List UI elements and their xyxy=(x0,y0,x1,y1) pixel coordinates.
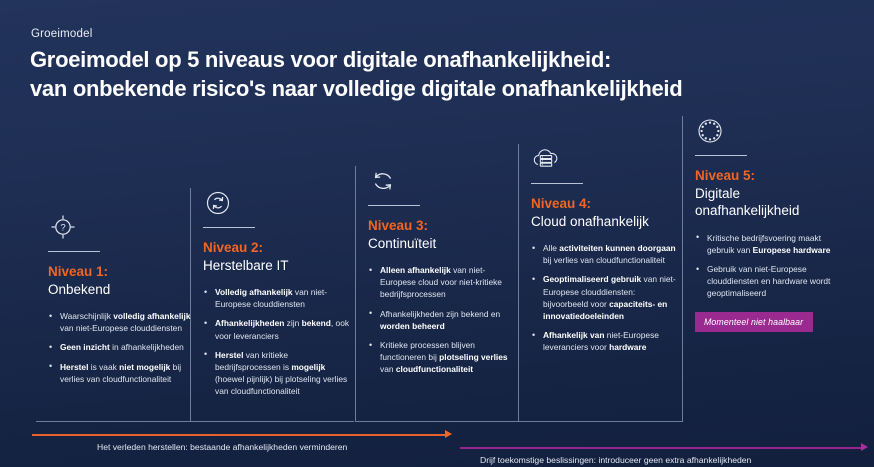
list-item: Alle activiteiten kunnen doorgaan bij ve… xyxy=(531,242,682,266)
level-column-4: Niveau 4: Cloud onafhankelijk Alle activ… xyxy=(518,144,682,422)
list-item: Afhankelijkheden zijn bekend, ook voor l… xyxy=(203,317,354,341)
level-label: Niveau 1: xyxy=(48,263,200,281)
list-item: Afhankelijkheden zijn bekend en worden b… xyxy=(368,308,519,332)
list-item: Alleen afhankelijk van niet-Europese clo… xyxy=(368,264,519,301)
restore-circle-icon xyxy=(203,188,233,218)
level-label: Niveau 2: xyxy=(203,239,354,257)
status-badge: Momenteel niet haalbaar xyxy=(695,312,813,332)
level-column-3: Niveau 3: Continuïteit Alleen afhankelij… xyxy=(355,166,519,422)
target-question-icon: ? xyxy=(48,212,78,242)
list-item: Volledig afhankelijk van niet-Europese c… xyxy=(203,286,354,310)
list-item: Geen inzicht in afhankelijkheden xyxy=(48,341,200,353)
level-name: Onbekend xyxy=(48,281,200,299)
level-bullets: Kritische bedrijfsvoering maakt gebruik … xyxy=(695,232,846,300)
svg-text:?: ? xyxy=(60,223,65,234)
divider-rule xyxy=(368,205,420,206)
level-bullets: Waarschijnlijk volledig afhankelijk van … xyxy=(48,310,200,385)
level-name: Digitale onafhankelijkheid xyxy=(695,185,846,220)
level-name: Herstelbare IT xyxy=(203,257,354,275)
arrow-label: Het verleden herstellen: bestaande afhan… xyxy=(97,442,347,452)
list-item: Kritieke processen blijven functioneren … xyxy=(368,339,519,376)
arrow-past-restore: Het verleden herstellen: bestaande afhan… xyxy=(32,434,452,460)
level-bullets: Alle activiteiten kunnen doorgaan bij ve… xyxy=(531,242,682,354)
list-item: Waarschijnlijk volledig afhankelijk van … xyxy=(48,310,200,334)
arrow-line xyxy=(460,447,861,449)
cloud-server-icon xyxy=(531,144,561,174)
divider-rule xyxy=(48,251,100,252)
list-item: Herstel van kritieke bedrijfsprocessen i… xyxy=(203,349,354,398)
refresh-cycle-icon xyxy=(368,166,398,196)
growth-model-stairs: ? Niveau 1: Onbekend Waarschijnlijk voll… xyxy=(0,0,874,467)
arrow-head-icon xyxy=(861,443,868,451)
list-item: Geoptimaliseerd gebruik van niet-Europes… xyxy=(531,273,682,322)
arrow-label: Drijf toekomstige beslissingen: introduc… xyxy=(480,455,751,465)
level-name: Continuïteit xyxy=(368,235,519,253)
level-label: Niveau 3: xyxy=(368,217,519,235)
arrow-line xyxy=(32,434,445,436)
divider-rule xyxy=(531,183,583,184)
list-item: Herstel is vaak niet mogelijk bij verlie… xyxy=(48,361,200,385)
level-label: Niveau 5: xyxy=(695,167,846,185)
level-name: Cloud onafhankelijk xyxy=(531,213,682,231)
level-label: Niveau 4: xyxy=(531,195,682,213)
level-bullets: Alleen afhankelijk van niet-Europese clo… xyxy=(368,264,519,376)
level-column-1: ? Niveau 1: Onbekend Waarschijnlijk voll… xyxy=(36,212,200,422)
list-item: Afhankelijk van niet-Europese leverancie… xyxy=(531,329,682,353)
arrow-future-decisions: Drijf toekomstige beslissingen: introduc… xyxy=(460,447,868,467)
eu-stars-icon xyxy=(695,116,725,146)
level-bullets: Volledig afhankelijk van niet-Europese c… xyxy=(203,286,354,398)
divider-rule xyxy=(203,227,255,228)
list-item: Gebruik van niet-Europese clouddiensten … xyxy=(695,263,846,300)
divider-rule xyxy=(695,155,747,156)
level-column-2: Niveau 2: Herstelbare IT Volledig afhank… xyxy=(190,188,354,422)
arrow-head-icon xyxy=(445,430,452,438)
list-item: Kritische bedrijfsvoering maakt gebruik … xyxy=(695,232,846,256)
level-column-5: Niveau 5: Digitale onafhankelijkheid Kri… xyxy=(682,116,846,422)
